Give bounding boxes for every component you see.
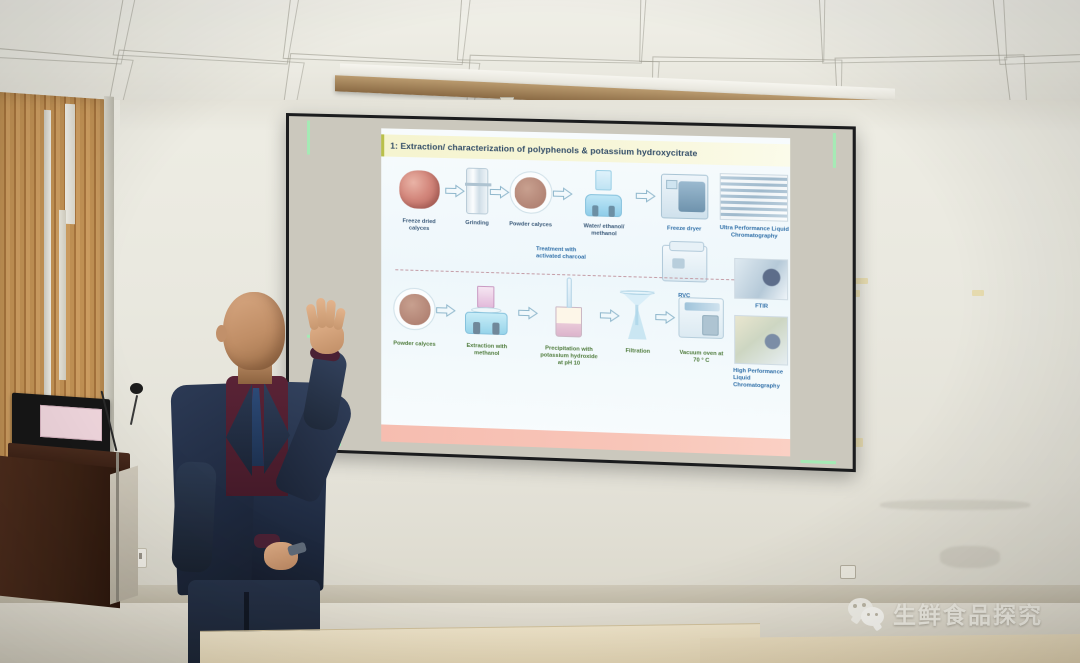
watermark: 生鲜食品探究 — [848, 596, 1043, 630]
watermark-text: 生鲜食品探究 — [893, 596, 1043, 630]
stir-plate-icon — [456, 281, 518, 341]
wall-tape-mark — [855, 278, 868, 284]
podium-cable — [116, 452, 119, 602]
flow-node-label: Freeze dried calyces — [393, 218, 445, 233]
wall-fixture — [840, 565, 856, 579]
wall-conduit-upper — [65, 104, 75, 225]
arrow-right-icon — [445, 164, 465, 217]
flow-node-label: Vacuum oven at 70 ° C — [676, 350, 727, 366]
petri-dish-icon — [509, 166, 552, 220]
arrow-right-icon — [600, 285, 620, 344]
flow-node: Vacuum oven at 70 ° C — [676, 288, 727, 366]
arrow-right-icon — [655, 287, 676, 347]
foreground-table-right — [700, 634, 1080, 663]
flow-node-label: Powder calyces — [509, 221, 552, 229]
petri-dish-icon — [393, 279, 435, 339]
funnel-flask-icon — [620, 286, 655, 346]
flow-node: Freeze dryer — [656, 169, 712, 233]
wall-tape-mark — [855, 438, 863, 447]
flow-node-label: Filtration — [620, 348, 655, 356]
flow-node-label: FTIR — [733, 303, 790, 312]
flow-node-label: High Performance Liquid Chromatography — [733, 368, 790, 391]
grinder-icon — [465, 165, 489, 218]
calyx-clump-icon — [393, 163, 445, 217]
flow-node: FTIR — [733, 257, 790, 312]
slide-flow-bottom-row: Powder calyces Extraction with methanol — [393, 279, 790, 391]
podium-body — [0, 456, 120, 609]
head — [223, 292, 285, 370]
beaker-icon — [538, 284, 600, 345]
arrow-right-icon — [518, 283, 538, 342]
flow-node: Powder calyces — [509, 166, 552, 230]
ftir-photo — [733, 257, 790, 301]
flow-node-label: Freeze dryer — [656, 225, 712, 234]
wall-smudge — [940, 546, 1000, 568]
raised-hand — [304, 298, 348, 356]
arrow-right-icon — [552, 167, 572, 220]
alignment-mark-top-right — [833, 133, 836, 168]
flow-node: Ultra Performance Liquid Chromatography — [718, 171, 790, 241]
wall-tape-mark — [972, 290, 984, 296]
alignment-mark-top-left — [307, 121, 310, 155]
vacuum-oven-icon — [676, 288, 727, 349]
flow-node-label: Water/ ethanol/ methanol — [572, 223, 635, 239]
podium-side-panel — [110, 465, 138, 604]
slide-title-band: 1: Extraction/ characterization of polyp… — [381, 134, 790, 166]
flow-node: Powder calyces — [393, 279, 435, 349]
flow-node-label: Grinding — [465, 220, 489, 228]
flow-node-label: Ultra Performance Liquid Chromatography — [718, 225, 790, 241]
flow-node: Water/ ethanol/ methanol — [572, 167, 635, 239]
freeze-dryer-icon — [656, 169, 712, 223]
slide-title: 1: Extraction/ characterization of polyp… — [381, 140, 697, 158]
flow-node-label: Extraction with methanol — [456, 343, 518, 359]
uplc-photo — [718, 171, 790, 224]
presenter — [168, 292, 383, 663]
slide-footer-band — [381, 424, 790, 456]
rvc-icon — [656, 236, 712, 290]
alignment-mark-bottom-right — [801, 460, 836, 464]
hplc-photo — [733, 314, 790, 367]
photo-scene: 1: Extraction/ characterization of polyp… — [0, 0, 1080, 663]
blender-icon — [572, 167, 635, 221]
flow-node: Extraction with methanol — [456, 281, 518, 359]
arrow-right-icon — [636, 169, 657, 222]
lowered-arm — [171, 461, 217, 573]
projected-slide: 1: Extraction/ characterization of polyp… — [381, 128, 790, 456]
flow-node-label: Powder calyces — [393, 340, 435, 348]
flow-node: Treatment with activated charcoal Precip… — [538, 284, 600, 369]
flow-node: Filtration — [620, 286, 655, 356]
annotation-label: Treatment with activated charcoal — [536, 246, 597, 262]
foreground-table — [200, 623, 760, 663]
wall-conduit-lower — [59, 210, 66, 380]
podium-nameplate — [40, 405, 102, 441]
flow-node-label: Precipitation with potassium hydroxide a… — [538, 345, 600, 368]
flow-node: High Performance Liquid Chromatography — [733, 314, 790, 391]
flow-output-group: FTIR High Performance Liquid Chromatogra… — [733, 289, 790, 391]
wall-smudge — [880, 500, 1030, 510]
ear — [216, 325, 227, 342]
flow-node: Grinding — [465, 165, 489, 228]
wechat-icon — [848, 598, 886, 628]
flow-node: Freeze dried calyces — [393, 163, 445, 234]
flow-output-group: Freeze dryer RVC — [656, 169, 712, 301]
arrow-right-icon — [436, 281, 456, 340]
microphone-icon — [130, 383, 143, 394]
arrow-right-icon — [489, 165, 509, 218]
